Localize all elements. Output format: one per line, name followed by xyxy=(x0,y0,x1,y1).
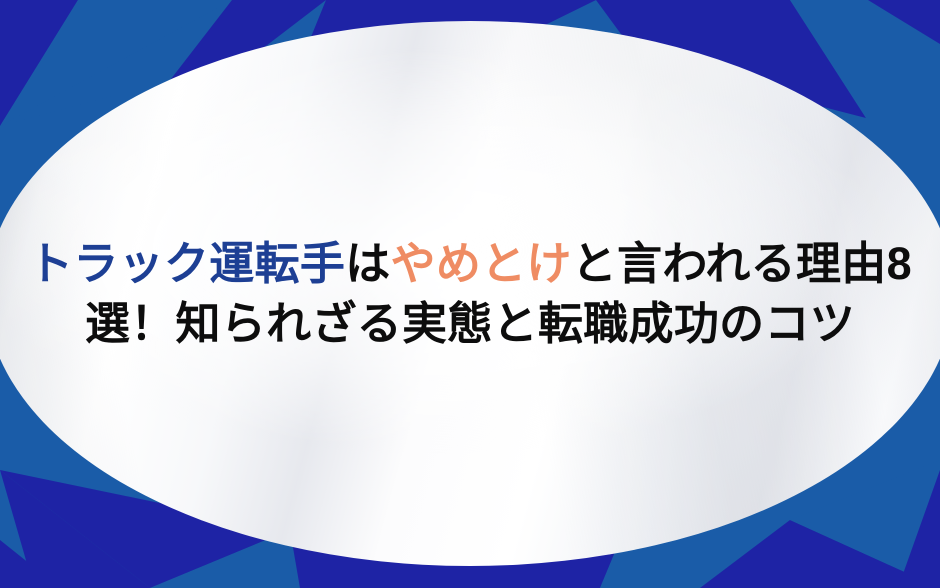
ellipse-sheen-overlay xyxy=(0,21,940,566)
thumbnail-canvas: トラック運転手はやめとけと言われる理由8 選！知られざる実態と転職成功のコツ xyxy=(0,0,940,588)
